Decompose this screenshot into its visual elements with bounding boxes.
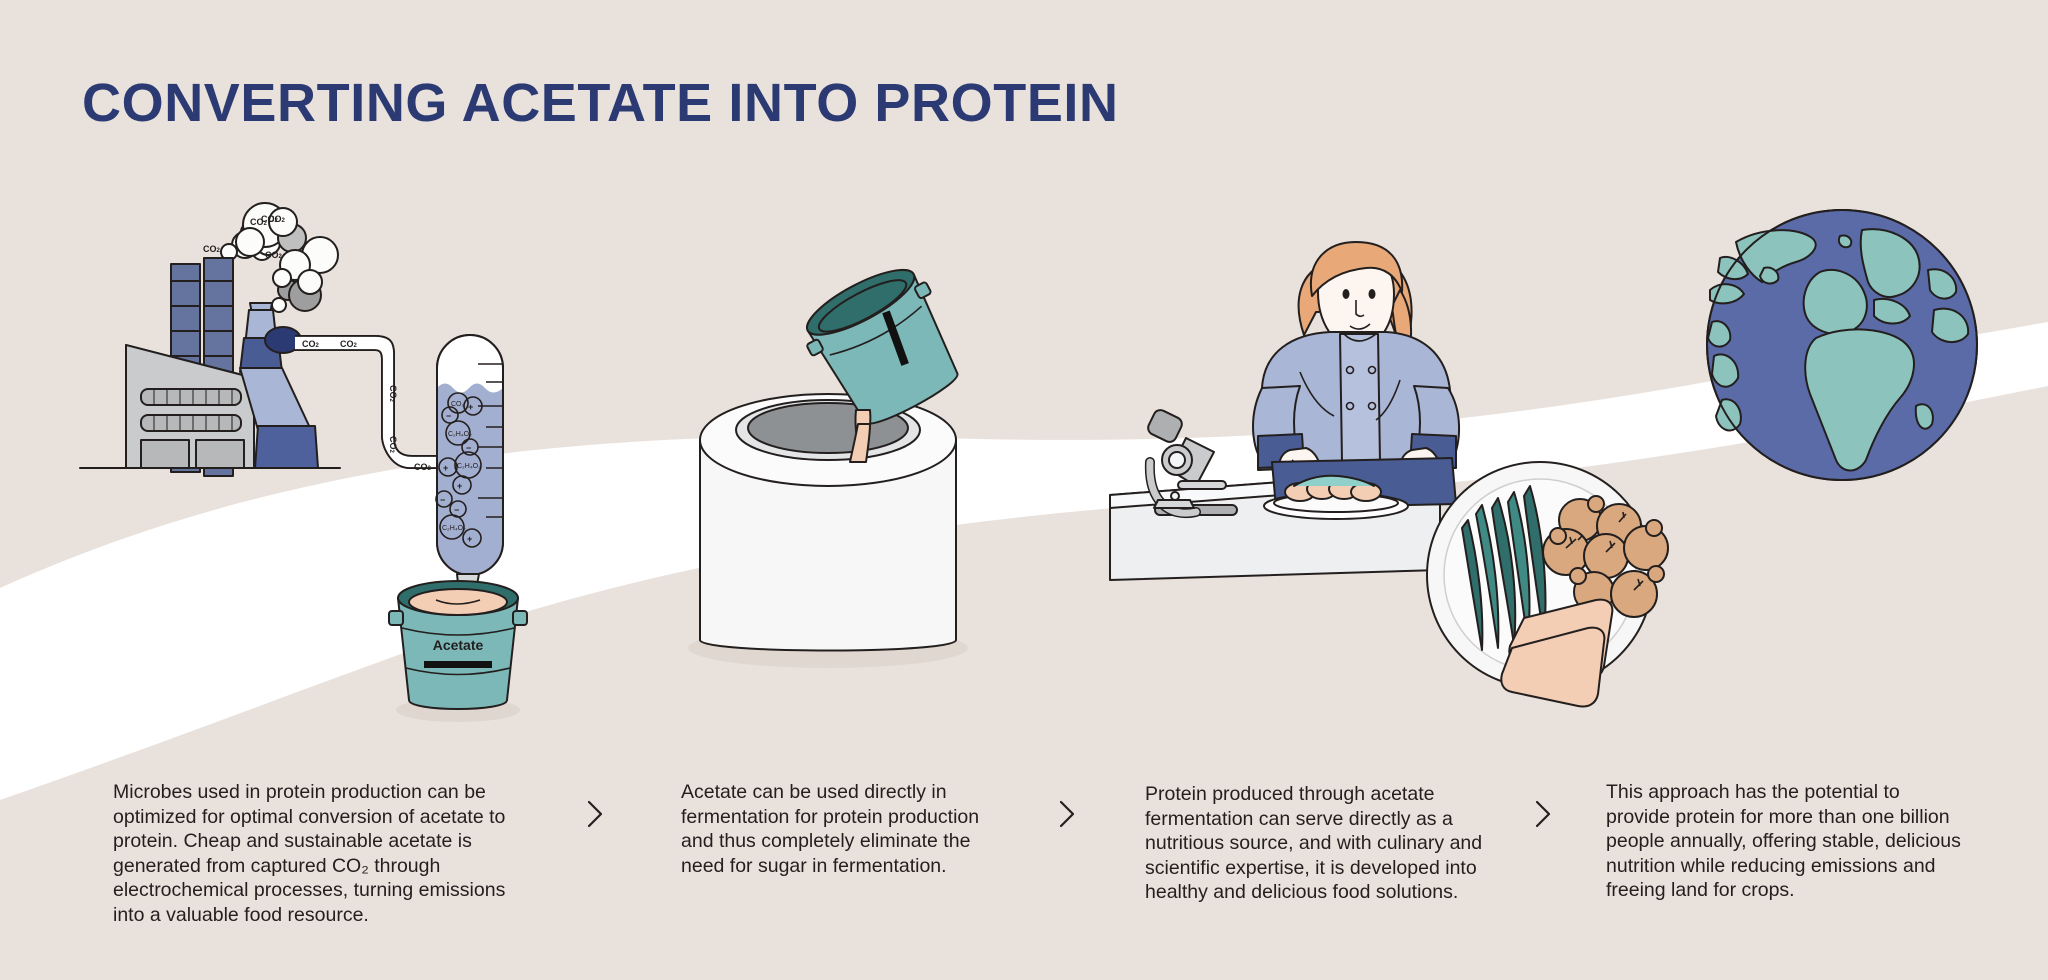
step-caption-2: Acetate can be used directly in fermenta… <box>681 780 1001 878</box>
chevron-right-icon <box>1528 794 1558 834</box>
chevron-right-icon <box>1052 794 1082 834</box>
step-caption-4: This approach has the potential to provi… <box>1606 780 1966 903</box>
page-title: CONVERTING ACETATE INTO PROTEIN <box>82 72 1119 134</box>
step-caption-3: Protein produced through acetate ferment… <box>1145 782 1525 905</box>
chevron-right-icon <box>580 794 610 834</box>
captions-row: Microbes used in protein production can … <box>0 780 2048 980</box>
infographic-canvas: CONVERTING ACETATE INTO PROTEIN .ol{stro… <box>0 0 2048 980</box>
step-caption-1: Microbes used in protein production can … <box>113 780 513 927</box>
